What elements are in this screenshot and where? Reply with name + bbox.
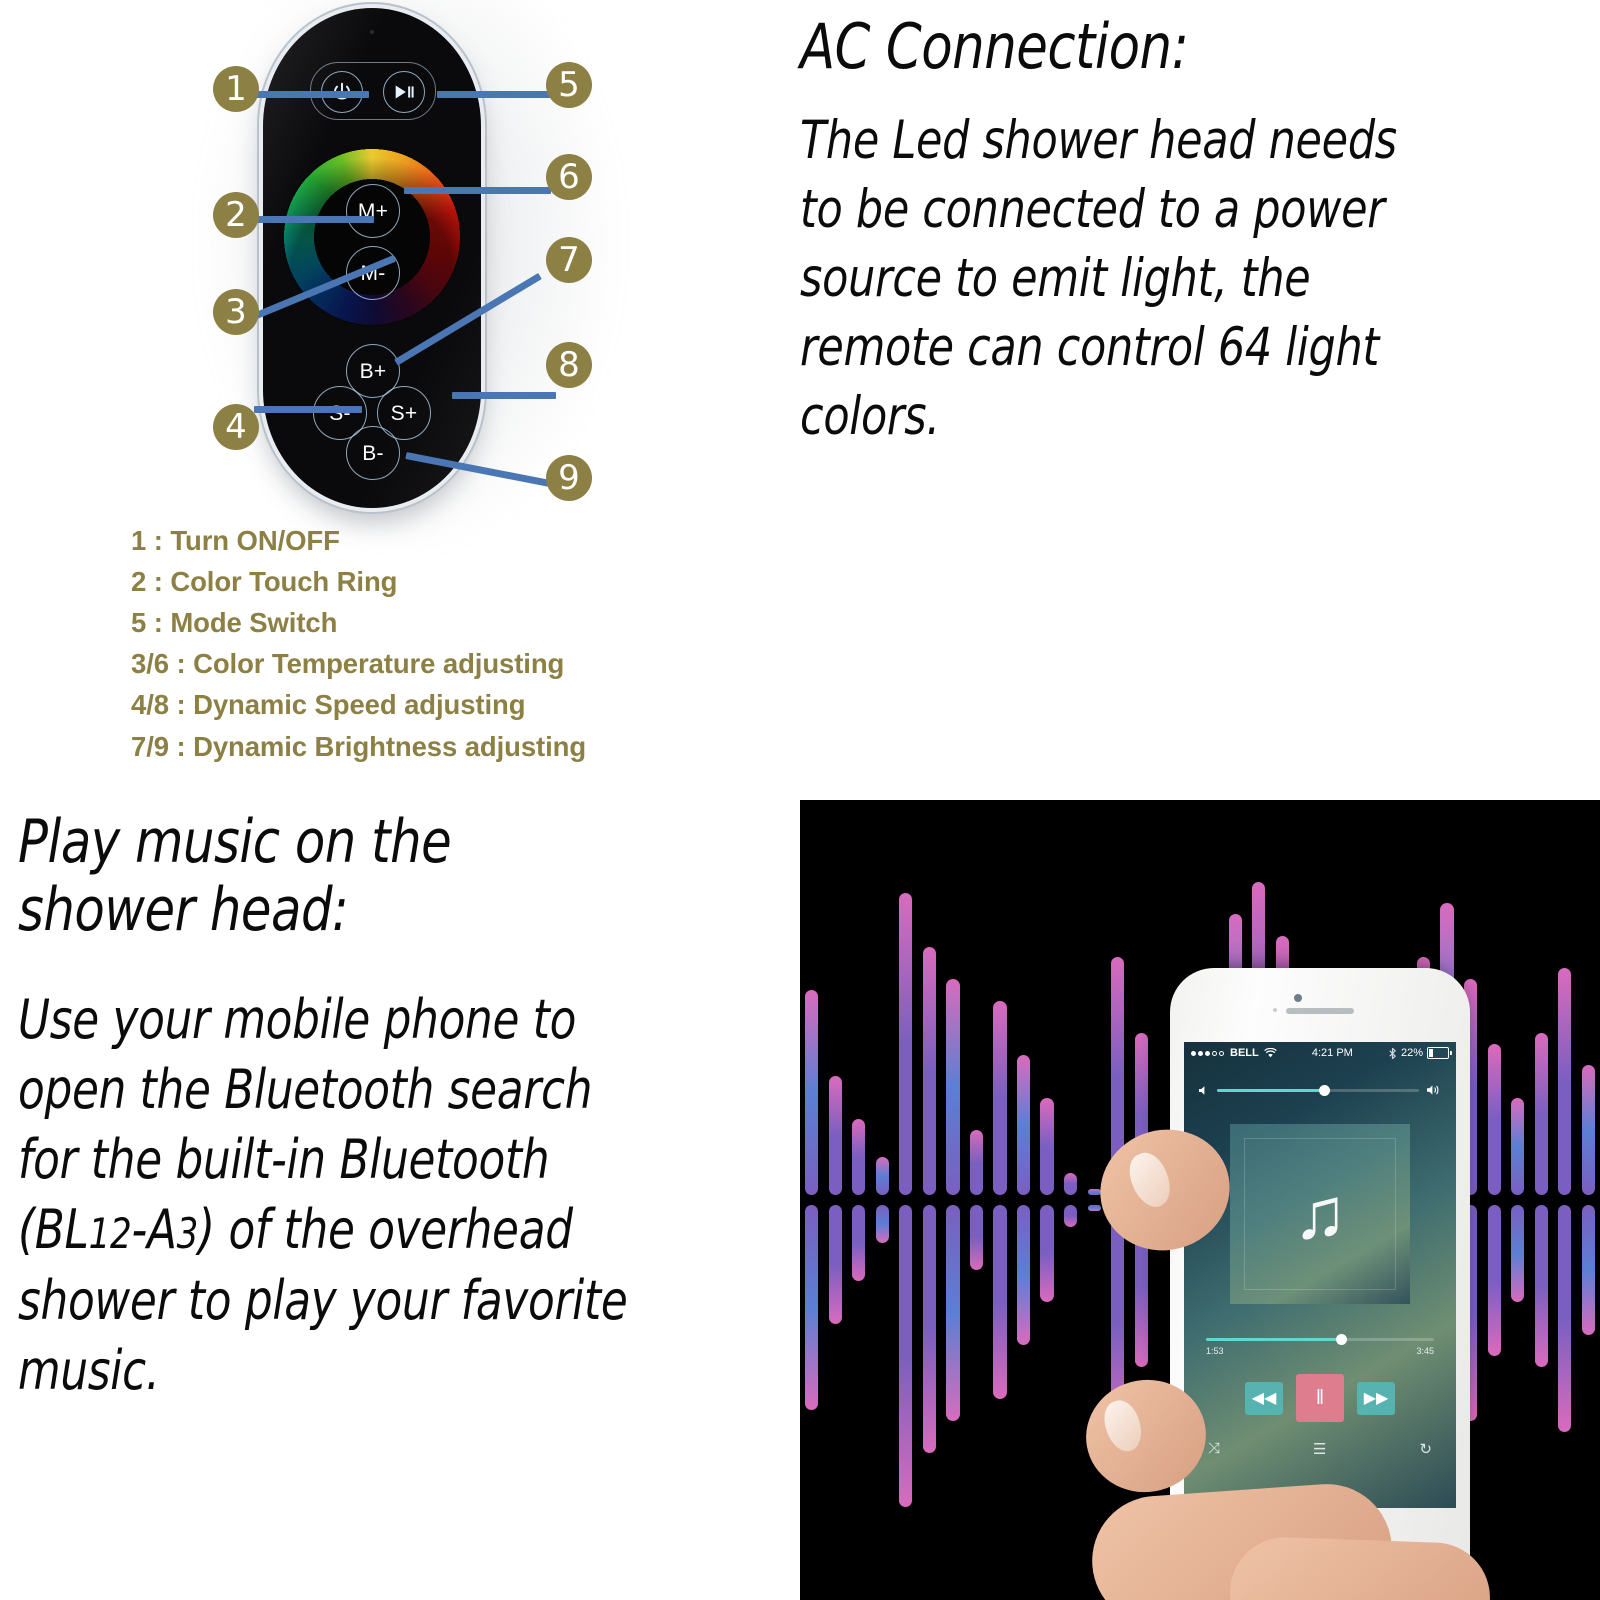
carrier-label: BELL <box>1230 1047 1259 1059</box>
equalizer-bar <box>1017 1205 1030 1345</box>
ac-connection-line: to be connected to a power <box>800 176 1511 245</box>
play-music-body-line: shower to play your favorite <box>18 1266 720 1336</box>
legend-row: 1 : Turn ON/OFF <box>131 520 731 561</box>
ir-led-dot <box>370 30 374 34</box>
callout-badge-2[interactable]: 2 <box>213 192 259 238</box>
leader-line-8 <box>452 392 556 399</box>
player-footer-icons: ⤨ ☰ ↻ <box>1208 1440 1432 1458</box>
equalizer-bar <box>993 1205 1006 1399</box>
status-bar: BELL 4:21 PM 22% <box>1184 1042 1456 1064</box>
equalizer-bar <box>1511 1205 1524 1302</box>
play-music-body-line: Use your mobile phone to <box>18 985 720 1055</box>
callout-badge-3[interactable]: 3 <box>213 289 259 335</box>
equalizer-bar <box>829 1205 842 1324</box>
button-legend-list: 1 : Turn ON/OFF 2 : Color Touch Ring 5 :… <box>131 520 731 767</box>
model-num-1: 12 <box>89 1209 132 1258</box>
front-camera-icon <box>1294 994 1302 1002</box>
playlist-icon[interactable]: ☰ <box>1313 1440 1326 1458</box>
equalizer-bar <box>1088 1189 1101 1195</box>
equalizer-bar <box>1488 1205 1501 1356</box>
ac-connection-section: AC Connection: The Led shower head needs… <box>800 14 1590 451</box>
play-music-body-line-model: (BL12-A3) of the overhead <box>18 1195 720 1265</box>
lower-fingers <box>1228 1535 1492 1600</box>
clock-label: 4:21 PM <box>1312 1047 1353 1059</box>
volume-high-icon <box>1426 1084 1442 1096</box>
equalizer-bar <box>970 1130 983 1195</box>
bluetooth-icon <box>1388 1047 1397 1060</box>
signal-strength-icon <box>1191 1051 1224 1056</box>
callout-badge-4[interactable]: 4 <box>213 404 259 450</box>
equalizer-bar <box>1040 1098 1053 1195</box>
leader-line-5 <box>437 91 555 98</box>
volume-slider-row[interactable] <box>1198 1082 1442 1098</box>
earpiece-speaker <box>1286 1008 1354 1014</box>
equalizer-bar <box>1535 1205 1548 1367</box>
volume-slider-track[interactable] <box>1217 1089 1419 1092</box>
callout-badge-7[interactable]: 7 <box>546 237 592 283</box>
equalizer-bar <box>946 979 959 1195</box>
equalizer-bar <box>852 1205 865 1281</box>
equalizer-bar <box>899 1205 912 1507</box>
equalizer-bar <box>876 1157 889 1195</box>
pause-button[interactable]: ‖ <box>1296 1374 1344 1422</box>
playback-progress-row[interactable]: 1:53 3:45 <box>1206 1338 1434 1356</box>
equalizer-bar <box>1064 1205 1077 1227</box>
volume-low-icon <box>1198 1085 1210 1096</box>
ac-connection-line: remote can control 64 light <box>800 314 1511 383</box>
callout-badge-6[interactable]: 6 <box>546 154 592 200</box>
model-num-2: 3 <box>177 1209 198 1258</box>
equalizer-bar <box>1064 1173 1077 1195</box>
leader-line-6 <box>404 187 551 194</box>
callout-badge-9[interactable]: 9 <box>546 455 592 501</box>
equalizer-bar <box>1582 1065 1595 1195</box>
equalizer-bar <box>946 1205 959 1421</box>
callout-badge-8[interactable]: 8 <box>546 342 592 388</box>
equalizer-bar <box>1558 1205 1571 1432</box>
leader-line-4 <box>254 406 362 413</box>
battery-percent-label: 22% <box>1401 1047 1423 1059</box>
brightness-minus-button[interactable]: B- <box>346 426 400 480</box>
model-mid: -A <box>131 1198 176 1261</box>
ac-connection-line: source to emit light, the <box>800 245 1511 314</box>
leader-line-1 <box>254 91 369 98</box>
equalizer-bar <box>1535 1033 1548 1195</box>
brightness-minus-label: B- <box>362 443 384 464</box>
callout-badge-5[interactable]: 5 <box>546 62 592 108</box>
legend-row: 5 : Mode Switch <box>131 602 731 643</box>
leader-line-2 <box>254 216 374 223</box>
mode-plus-button[interactable]: M+ <box>346 184 400 238</box>
proximity-sensor-icon <box>1273 1008 1277 1012</box>
play-music-section: Play music on the shower head: Use your … <box>18 808 798 1406</box>
previous-button[interactable]: ◀◀ <box>1245 1382 1283 1415</box>
legend-row: 4/8 : Dynamic Speed adjusting <box>131 684 731 725</box>
equalizer-bar <box>993 1001 1006 1195</box>
model-suffix: ) of the overhead <box>198 1198 573 1261</box>
play-pause-icon <box>392 82 416 102</box>
battery-icon <box>1427 1047 1449 1059</box>
phone-screen: BELL 4:21 PM 22% <box>1184 1042 1456 1508</box>
play-music-heading-line: Play music on the <box>18 808 736 876</box>
equalizer-bar <box>1558 968 1571 1195</box>
equalizer-bar <box>1088 1205 1101 1211</box>
transport-controls: ◀◀ ‖ ▶▶ <box>1184 1374 1456 1422</box>
legend-row: 7/9 : Dynamic Brightness adjusting <box>131 726 731 767</box>
speed-plus-label: S+ <box>391 403 418 424</box>
remote-control-body: M+ M- B+ S- S+ B- <box>263 8 481 508</box>
equalizer-bar <box>829 1076 842 1195</box>
volume-slider-knob[interactable] <box>1319 1085 1330 1096</box>
total-time-label: 3:45 <box>1416 1346 1434 1356</box>
equalizer-bar <box>805 1205 818 1410</box>
equalizer-bar <box>923 947 936 1195</box>
play-music-body-line: for the built-in Bluetooth <box>18 1125 720 1195</box>
elapsed-time-label: 1:53 <box>1206 1346 1224 1356</box>
ac-connection-line: The Led shower head needs <box>800 107 1511 176</box>
equalizer-bar <box>1040 1205 1053 1302</box>
play-music-body-line: open the Bluetooth search <box>18 1055 720 1125</box>
legend-row: 2 : Color Touch Ring <box>131 561 731 602</box>
wifi-icon <box>1264 1048 1277 1059</box>
progress-slider-knob[interactable] <box>1336 1334 1347 1345</box>
equalizer-bar <box>1017 1055 1030 1195</box>
equalizer-bar <box>1488 1044 1501 1195</box>
ac-connection-line: colors. <box>800 383 1511 452</box>
ac-connection-heading: AC Connection: <box>800 14 1527 81</box>
equalizer-bar <box>1511 1098 1524 1195</box>
equalizer-bar <box>852 1119 865 1195</box>
equalizer-bar <box>1582 1205 1595 1335</box>
next-button[interactable]: ▶▶ <box>1357 1382 1395 1415</box>
music-photo-panel: BELL 4:21 PM 22% <box>800 800 1600 1600</box>
equalizer-bar <box>923 1205 936 1453</box>
equalizer-bar <box>805 990 818 1195</box>
volume-slider-fill <box>1217 1089 1324 1092</box>
brightness-plus-label: B+ <box>360 361 387 382</box>
progress-slider-track[interactable] <box>1206 1338 1434 1341</box>
play-music-heading-line: shower head: <box>18 876 736 944</box>
equalizer-bar <box>899 893 912 1195</box>
repeat-icon[interactable]: ↻ <box>1419 1440 1432 1458</box>
legend-row: 3/6 : Color Temperature adjusting <box>131 643 731 684</box>
music-note-icon: ♫ <box>1293 1178 1347 1250</box>
progress-slider-fill <box>1206 1338 1341 1341</box>
equalizer-bar <box>970 1205 983 1270</box>
play-pause-button[interactable] <box>383 71 425 113</box>
shuffle-icon[interactable]: ⤨ <box>1208 1440 1220 1458</box>
equalizer-bar <box>876 1205 889 1243</box>
model-prefix: (BL <box>18 1198 89 1261</box>
callout-badge-1[interactable]: 1 <box>213 66 259 112</box>
play-music-body-line: music. <box>18 1336 720 1406</box>
album-art: ♫ <box>1230 1124 1410 1304</box>
progress-times: 1:53 3:45 <box>1206 1346 1434 1356</box>
